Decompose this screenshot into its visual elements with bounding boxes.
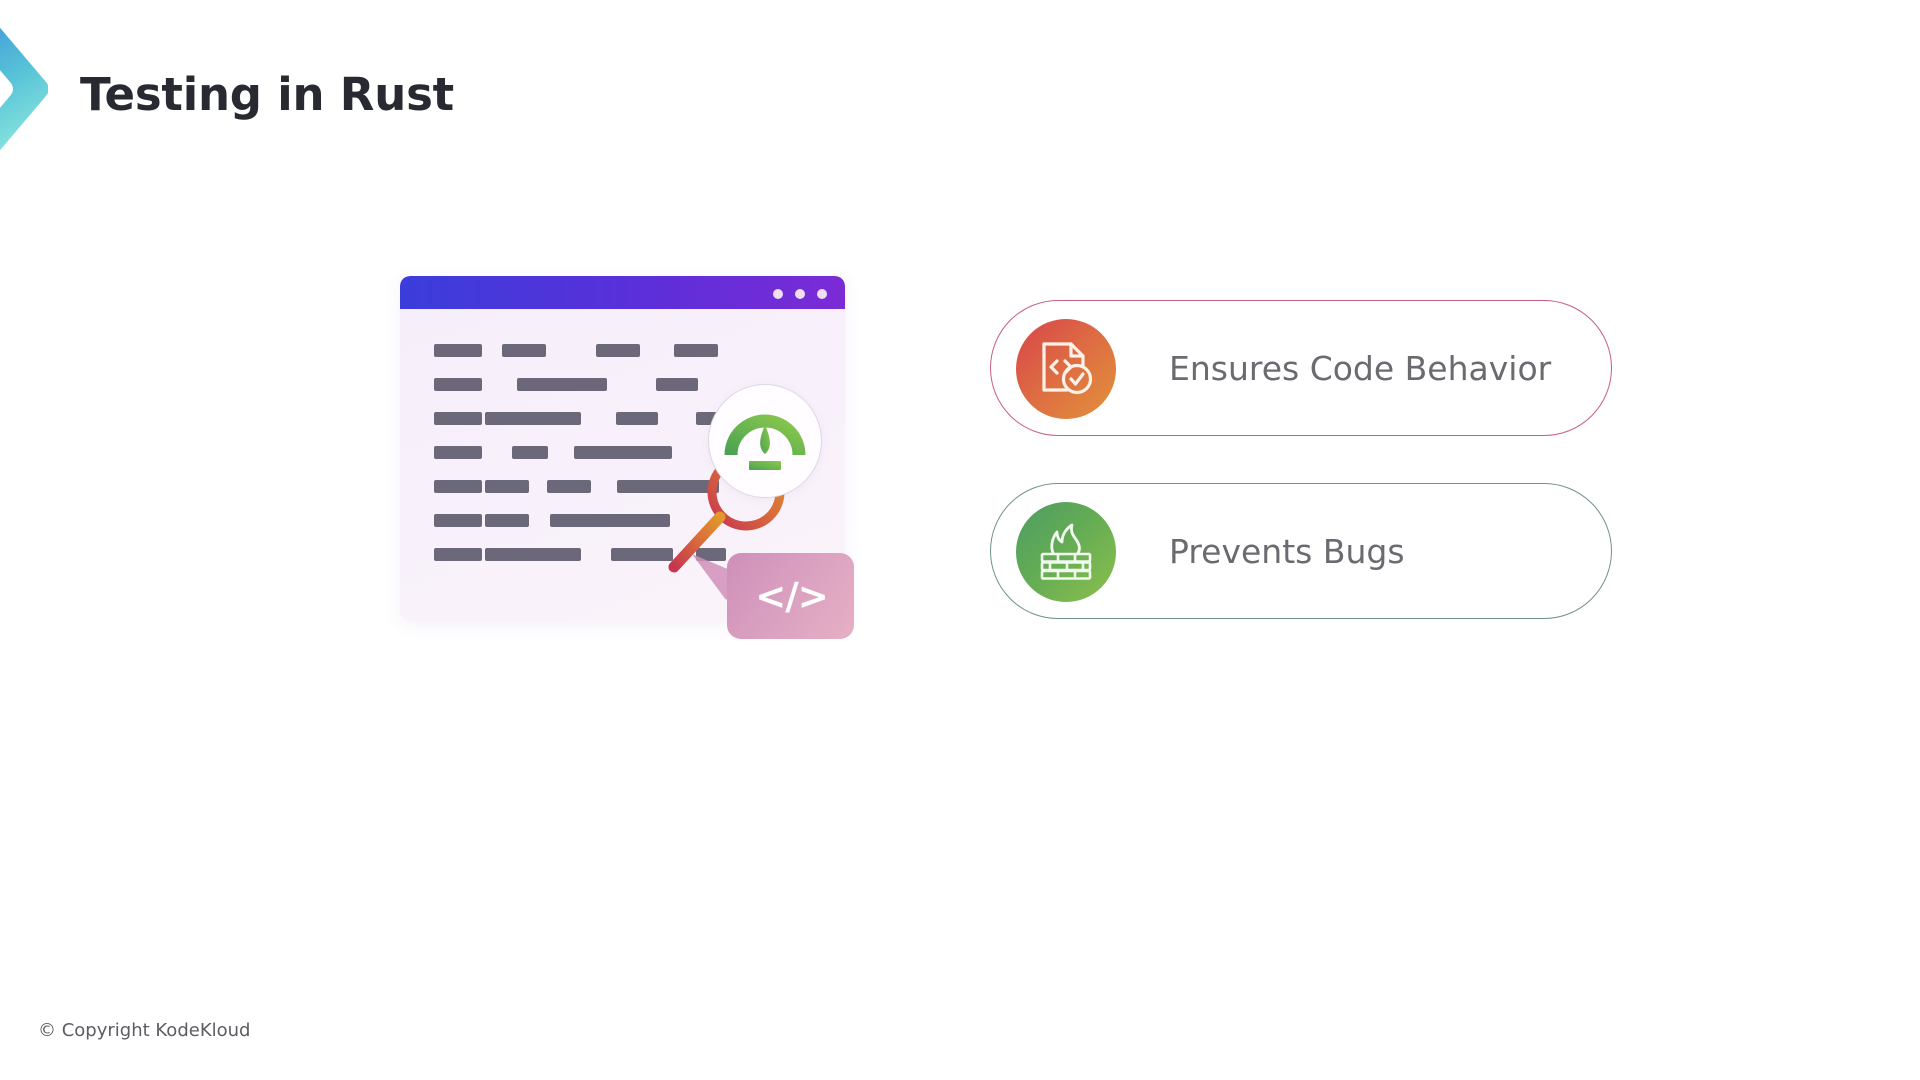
window-dot-minimize-icon bbox=[795, 289, 805, 299]
code-testing-illustration: </> bbox=[390, 260, 890, 660]
code-line-segment bbox=[434, 378, 482, 391]
code-line bbox=[434, 344, 834, 357]
code-line-segment bbox=[434, 412, 482, 425]
firewall-flame-icon-wrap bbox=[1016, 502, 1116, 602]
code-line-segment bbox=[434, 480, 482, 493]
code-line-segment bbox=[596, 344, 640, 357]
code-line-segment bbox=[616, 412, 658, 425]
code-line-segment bbox=[434, 446, 482, 459]
code-document-check-icon-wrap bbox=[1016, 319, 1116, 419]
window-titlebar bbox=[400, 276, 845, 309]
feature-card-label: Ensures Code Behavior bbox=[1169, 301, 1551, 435]
code-line-segment bbox=[485, 514, 529, 527]
code-line-segment bbox=[434, 514, 482, 527]
code-line-segment bbox=[434, 344, 482, 357]
code-line-segment bbox=[485, 412, 581, 425]
page-title: Testing in Rust bbox=[80, 68, 454, 121]
code-line-segment bbox=[512, 446, 548, 459]
window-dot-close-icon bbox=[773, 289, 783, 299]
code-brackets-glyph: </> bbox=[755, 578, 828, 615]
code-line-segment bbox=[517, 378, 607, 391]
feature-card-prevents-bugs[interactable]: Prevents Bugs bbox=[990, 483, 1612, 619]
code-line-segment bbox=[485, 548, 581, 561]
footer-copyright: © Copyright KodeKloud bbox=[38, 1020, 250, 1041]
brand-logo-chevron-icon bbox=[0, 14, 48, 164]
gauge-badge-circle bbox=[708, 384, 822, 498]
feature-card-ensures-code-behavior[interactable]: Ensures Code Behavior bbox=[990, 300, 1612, 436]
speedometer-gauge-icon bbox=[723, 399, 807, 483]
code-line-segment bbox=[674, 344, 718, 357]
code-line-segment bbox=[656, 378, 698, 391]
feature-card-list: Ensures Code Behavior Prevents Bugs bbox=[990, 300, 1614, 619]
code-line-segment bbox=[434, 548, 482, 561]
window-dot-maximize-icon bbox=[817, 289, 827, 299]
code-line-segment bbox=[547, 480, 591, 493]
code-brackets-badge: </> bbox=[727, 553, 854, 639]
code-line-segment bbox=[502, 344, 546, 357]
feature-card-label: Prevents Bugs bbox=[1169, 484, 1405, 618]
firewall-flame-icon bbox=[1037, 523, 1095, 581]
code-line-segment bbox=[485, 480, 529, 493]
code-document-check-icon bbox=[1037, 340, 1095, 398]
code-line-segment bbox=[550, 514, 670, 527]
